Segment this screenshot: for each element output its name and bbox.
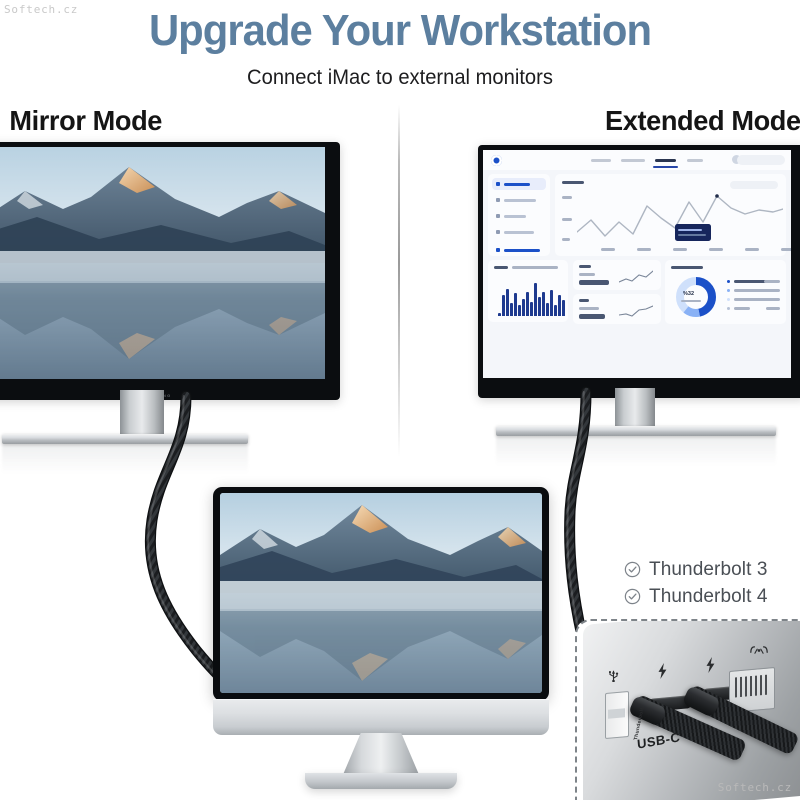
imac-chin	[213, 699, 549, 735]
bar	[518, 305, 521, 316]
y-axis-tick	[562, 238, 570, 241]
gear-icon	[496, 248, 500, 252]
left-monitor-display	[0, 147, 325, 379]
sidebar-item-label	[504, 199, 536, 202]
right-monitor-display: %32	[483, 150, 791, 378]
x-axis-tick	[709, 248, 723, 251]
left-monitor-brand: SAMSUNG	[0, 393, 340, 398]
bills-stat-card	[573, 294, 661, 324]
legend-marker	[727, 307, 730, 310]
section-divider	[398, 105, 400, 457]
y-axis-tick	[562, 196, 572, 199]
dashboard: %32	[483, 150, 791, 378]
legend-value	[766, 289, 780, 292]
sidebar-item-monthly-income[interactable]	[492, 194, 546, 206]
net-worth-card	[555, 174, 786, 256]
right-monitor-neck	[615, 388, 655, 428]
watermark-top-left: Softech.cz	[4, 3, 78, 16]
product-marketing-image: Upgrade Your Workstation Connect iMac to…	[0, 0, 800, 800]
y-axis-tick	[562, 218, 572, 221]
income-value	[579, 280, 609, 285]
net-worth-search[interactable]	[730, 181, 778, 189]
plan-icon	[496, 214, 500, 218]
sidebar-item-tax-transactions[interactable]	[492, 226, 546, 238]
income-label	[579, 265, 591, 268]
spend-by-category-card: %32	[665, 260, 786, 324]
dashboard-tab-reports[interactable]	[655, 159, 676, 162]
feature-label: Thunderbolt 3	[649, 559, 768, 581]
usb-icon	[607, 667, 620, 685]
left-monitor-wallpaper	[0, 147, 325, 379]
bar	[514, 293, 517, 316]
section-label-extended-mode: Extended Mode	[605, 105, 800, 137]
section-label-mirror-mode: Mirror Mode	[9, 105, 162, 137]
bar	[534, 283, 537, 316]
ethernet-icon	[749, 645, 769, 659]
feature-item: Thunderbolt 4	[624, 583, 768, 610]
left-monitor-base	[2, 434, 248, 444]
bar	[502, 295, 505, 316]
donut-center-value: %32	[683, 291, 694, 297]
dashboard-tab-contacts[interactable]	[621, 159, 645, 162]
tooltip-date	[678, 234, 706, 236]
income-sparkline	[619, 270, 653, 284]
bills-label	[579, 299, 589, 302]
usb-a-tongue	[608, 708, 625, 718]
income-stat-card	[573, 260, 661, 290]
donut-title	[671, 266, 703, 269]
net-worth-title	[562, 181, 584, 184]
legend-marker	[727, 298, 730, 301]
imac-stand	[342, 733, 420, 777]
right-monitor-screen: %32	[478, 145, 800, 398]
check-circle-icon	[624, 561, 641, 578]
tax-icon	[496, 230, 500, 234]
donut-chart	[673, 274, 719, 320]
watermark-bottom-right: Softech.cz	[718, 781, 792, 794]
legend-label	[734, 307, 750, 310]
bar-card-subtitle	[512, 266, 558, 269]
bar	[530, 302, 533, 316]
dashboard-sidebar	[488, 174, 550, 256]
sidebar-item-add-financial-details[interactable]	[492, 244, 546, 256]
bar	[538, 297, 541, 316]
imac-wallpaper	[220, 493, 542, 693]
dashboard-tab-tools[interactable]	[687, 159, 703, 162]
net-worth-tooltip	[675, 224, 711, 241]
bar	[506, 289, 509, 316]
dashboard-tab-active-underline	[653, 166, 678, 168]
left-monitor-screen: SAMSUNG	[0, 142, 340, 400]
x-axis-tick	[781, 248, 791, 251]
sidebar-item-label	[504, 231, 534, 234]
dashboard-logo-icon	[491, 155, 502, 166]
bar	[498, 313, 501, 316]
dashboard-tab-browse[interactable]	[591, 159, 611, 162]
x-axis-tick	[673, 248, 687, 251]
dashboard-icon	[496, 182, 500, 186]
x-axis-tick	[637, 248, 651, 251]
imac-screen	[213, 487, 549, 701]
bar	[510, 303, 513, 316]
feature-item: Thunderbolt 3	[624, 556, 768, 583]
income-icon	[496, 198, 500, 202]
thunderbolt-icon	[657, 663, 668, 682]
usb-a-port	[605, 691, 629, 739]
sidebar-item-dashboard[interactable]	[492, 178, 546, 190]
x-axis-tick	[745, 248, 759, 251]
donut-center-label	[681, 300, 701, 302]
dashboard-user-menu[interactable]	[737, 155, 785, 165]
thunderbolt-icon	[705, 657, 716, 676]
bar-chart	[498, 278, 564, 316]
left-monitor-reflection	[2, 444, 248, 474]
bar	[562, 300, 565, 316]
bar	[522, 299, 525, 316]
income-sub	[579, 273, 595, 276]
imac-display	[220, 493, 542, 693]
page-subtitle: Connect iMac to external monitors	[16, 66, 784, 90]
port-detail-inset: USB-C Thunderbolt	[575, 619, 800, 800]
imac	[205, 487, 557, 800]
legend-value	[766, 307, 780, 310]
feature-label: Thunderbolt 4	[649, 586, 768, 608]
bar	[546, 303, 549, 316]
bar	[558, 295, 561, 316]
sidebar-item-label	[504, 183, 530, 186]
page-title: Upgrade Your Workstation	[20, 8, 780, 54]
bar	[542, 292, 545, 316]
bills-sub	[579, 307, 599, 310]
x-axis-tick	[601, 248, 615, 251]
right-monitor-base	[496, 426, 776, 436]
donut-legend	[727, 278, 780, 314]
left-monitor: SAMSUNG	[0, 142, 330, 442]
bar	[526, 292, 529, 316]
right-monitor: %32	[478, 145, 800, 435]
legend-marker	[727, 289, 730, 292]
check-circle-icon	[624, 588, 641, 605]
tooltip-value	[678, 229, 702, 231]
bar	[550, 290, 553, 316]
feature-list: Thunderbolt 3 Thunderbolt 4	[624, 556, 768, 610]
bar	[554, 305, 557, 316]
sidebar-item-label	[504, 249, 540, 252]
activity-bar-card	[488, 260, 568, 322]
bills-value	[579, 314, 605, 319]
bills-sparkline	[619, 304, 653, 318]
imac-foot	[305, 773, 457, 789]
legend-marker	[727, 280, 730, 283]
legend-value	[764, 280, 780, 283]
port-detail-body: USB-C Thunderbolt	[577, 621, 800, 800]
sidebar-item-label	[504, 215, 526, 218]
legend-value	[766, 298, 780, 301]
left-monitor-neck	[120, 390, 164, 436]
right-monitor-reflection	[496, 436, 776, 466]
sidebar-item-prepare-plan[interactable]	[492, 210, 546, 222]
bar-card-title	[494, 266, 508, 269]
